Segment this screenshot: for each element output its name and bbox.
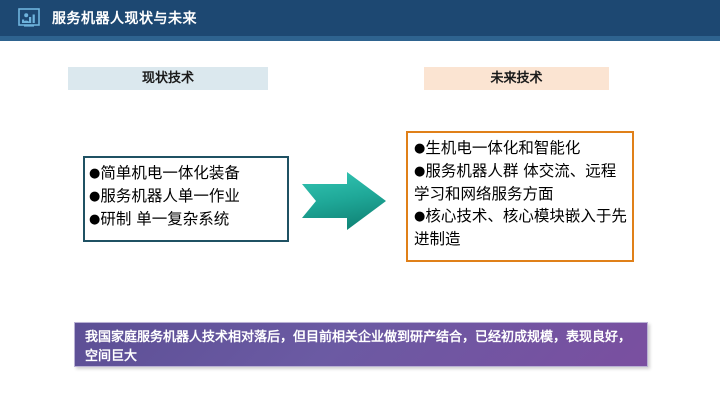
list-item-label: 研制 单一复杂系统 xyxy=(100,210,229,228)
presentation-chart-icon xyxy=(18,8,40,28)
list-item: ●服务机器人单一作业 xyxy=(89,185,285,208)
list-item: ●服务机器人群 体交流、远程学习和网络服务方面 xyxy=(414,160,630,205)
title-bar-underline xyxy=(0,36,720,41)
bullet-icon: ● xyxy=(414,209,425,224)
bullet-icon: ● xyxy=(89,166,100,181)
current-tech-box: ●简单机电一体化装备 ●服务机器人单一作业 ●研制 单一复杂系统 xyxy=(83,156,289,242)
list-item-label: 简单机电一体化装备 xyxy=(100,164,240,182)
list-item: ●生机电一体化和智能化 xyxy=(414,137,630,160)
right-arrow-icon xyxy=(300,170,388,232)
list-item: ●简单机电一体化装备 xyxy=(89,162,285,185)
summary-banner: 我国家庭服务机器人技术相对落后，但目前相关企业做到研产结合，已经初成规模，表现良… xyxy=(74,322,648,367)
future-tech-list: ●生机电一体化和智能化 ●服务机器人群 体交流、远程学习和网络服务方面 ●核心技… xyxy=(414,137,630,250)
slide-canvas: 服务机器人现状与未来 现状技术 未来技术 ●简单机电一体化装备 ●服务机器人单一… xyxy=(0,0,720,405)
list-item-label: 生机电一体化和智能化 xyxy=(425,139,580,157)
bullet-icon: ● xyxy=(414,164,425,179)
future-tech-box: ●生机电一体化和智能化 ●服务机器人群 体交流、远程学习和网络服务方面 ●核心技… xyxy=(406,131,634,262)
list-item-label: 服务机器人单一作业 xyxy=(100,187,240,205)
slide-title-bar: 服务机器人现状与未来 xyxy=(0,0,720,36)
column-header-current: 现状技术 xyxy=(68,67,268,90)
list-item: ●研制 单一复杂系统 xyxy=(89,208,285,231)
page-title: 服务机器人现状与未来 xyxy=(52,8,197,28)
current-tech-list: ●简单机电一体化装备 ●服务机器人单一作业 ●研制 单一复杂系统 xyxy=(89,162,285,231)
list-item: ●核心技术、核心模块嵌入于先进制造 xyxy=(414,205,630,250)
column-header-future: 未来技术 xyxy=(424,67,609,90)
bullet-icon: ● xyxy=(89,189,100,204)
list-item-label: 核心技术、核心模块嵌入于先进制造 xyxy=(414,207,627,248)
bullet-icon: ● xyxy=(414,141,425,156)
bullet-icon: ● xyxy=(89,212,100,227)
list-item-label: 服务机器人群 体交流、远程学习和网络服务方面 xyxy=(414,162,616,203)
